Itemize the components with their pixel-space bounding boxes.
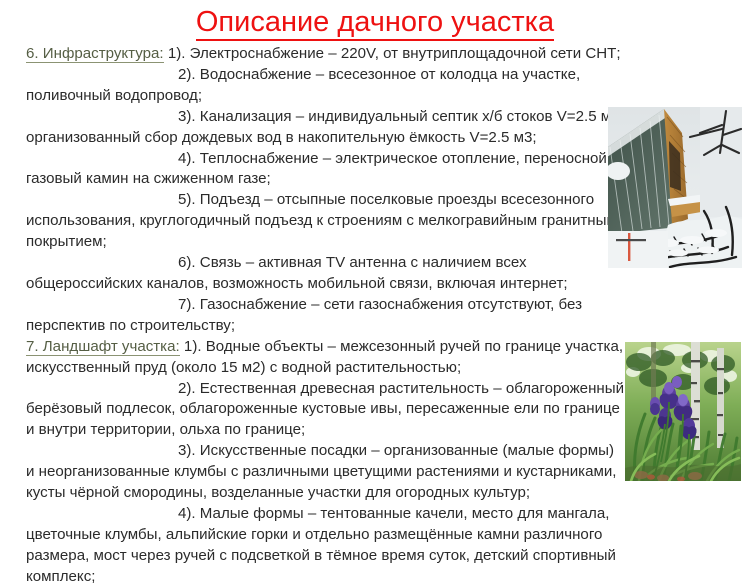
section-6-item-6-paragraph: 6). Связь – активная TV антенна с наличи… <box>26 253 626 295</box>
section-7-item-4: 4). Малые формы – тентованные качели, ме… <box>26 505 616 585</box>
section-7-first-paragraph: 7. Ландшафт участка: 1). Водные объекты … <box>26 337 626 379</box>
section-7-item-4-paragraph: 4). Малые формы – тентованные качели, ме… <box>26 504 626 588</box>
winter-cabin-photo <box>608 107 742 268</box>
garden-irises-illustration <box>625 342 741 481</box>
section-6-item-2: 2). Водоснабжение – всесезонное от колод… <box>26 66 580 104</box>
section-7-heading: 7. Ландшафт участка: <box>26 338 180 356</box>
section-7-item-3-paragraph: 3). Искусственные посадки – организованн… <box>26 441 626 504</box>
description-body: 6. Инфраструктура: 1). Электроснабжение … <box>26 44 626 588</box>
section-6-item-4: 4). Теплоснабжение – электрическое отопл… <box>26 150 607 188</box>
section-7-item-2-paragraph: 2). Естественная древесная растительност… <box>26 379 626 442</box>
section-6-item-2-paragraph: 2). Водоснабжение – всесезонное от колод… <box>26 65 626 107</box>
section-6-item-5: 5). Подъезд – отсыпные поселковые проезд… <box>26 191 617 250</box>
section-6-item-7: 7). Газоснабжение – сети газоснабжения о… <box>26 296 582 334</box>
section-6-first-paragraph: 6. Инфраструктура: 1). Электроснабжение … <box>26 44 626 65</box>
section-6-item-3: 3). Канализация – индивидуальный септик … <box>26 108 624 146</box>
section-6-item-5-paragraph: 5). Подъезд – отсыпные поселковые проезд… <box>26 190 626 253</box>
slide-canvas: Описание дачного участка 6. Инфраструкту… <box>0 0 750 562</box>
section-6-item-4-paragraph: 4). Теплоснабжение – электрическое отопл… <box>26 149 626 191</box>
section-6-item-3-paragraph: 3). Канализация – индивидуальный септик … <box>26 107 626 149</box>
section-6-item-7-paragraph: 7). Газоснабжение – сети газоснабжения о… <box>26 295 626 337</box>
section-7-item-2: 2). Естественная древесная растительност… <box>26 380 624 439</box>
page-title: Описание дачного участка <box>0 4 750 40</box>
section-6-heading: 6. Инфраструктура: <box>26 45 164 63</box>
section-6-item-6: 6). Связь – активная TV антенна с наличи… <box>26 254 568 292</box>
section-6-item-1: 1). Электроснабжение – 220V, от внутрипл… <box>168 45 621 62</box>
page-title-text: Описание дачного участка <box>196 6 554 41</box>
winter-cabin-illustration <box>608 107 742 268</box>
garden-irises-photo <box>625 342 741 481</box>
section-7-item-3: 3). Искусственные посадки – организованн… <box>26 442 616 501</box>
